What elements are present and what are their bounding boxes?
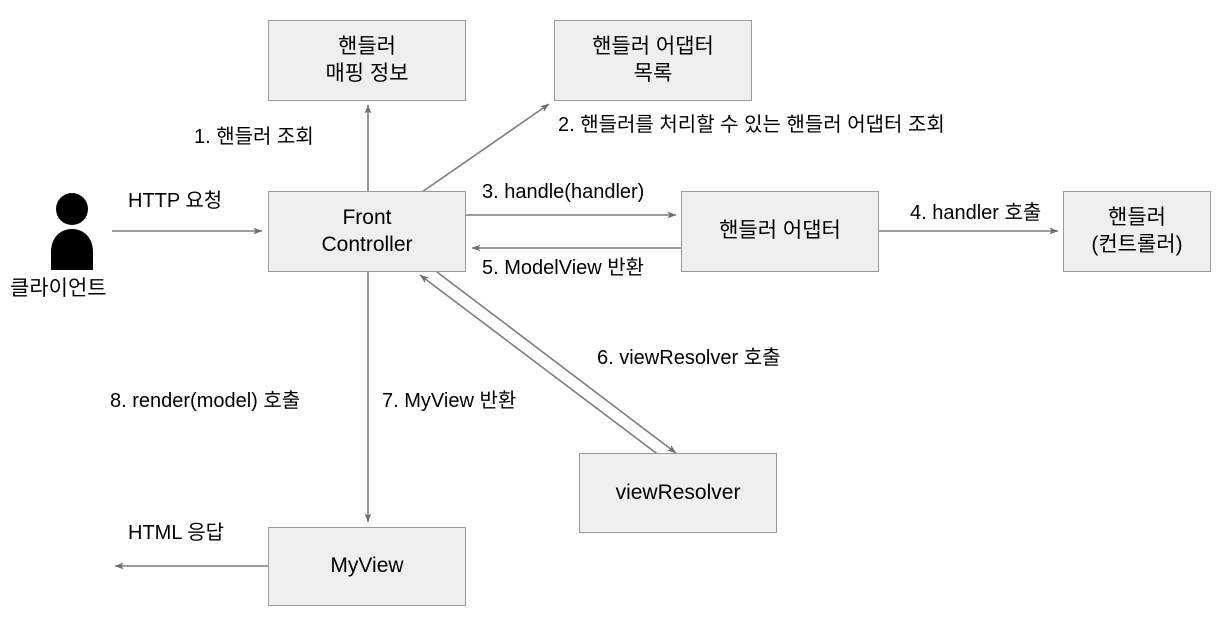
node-handler-controller[interactable]: 핸들러 (컨트롤러) (1063, 191, 1211, 272)
node-my-view[interactable]: MyView (268, 527, 466, 606)
node-handler-adapter-list[interactable]: 핸들러 어댑터 목록 (554, 20, 752, 101)
connector-step-2 (422, 104, 549, 192)
node-view-resolver[interactable]: viewResolver (579, 453, 777, 533)
diagram-canvas: 클라이언트 핸들러 매핑 정보 핸들러 어댑터 목록 Front Control… (0, 0, 1227, 624)
edge-label-step-3: 3. handle(handler) (482, 180, 644, 204)
edge-label-step-8: 8. render(model) 호출 (110, 389, 300, 413)
edge-label-step-5: 5. ModelView 반환 (482, 256, 644, 280)
edge-label-step-4: 4. handler 호출 (910, 201, 1041, 225)
actor-body-icon (51, 229, 93, 270)
edge-label-step-1: 1. 핸들러 조회 (194, 125, 314, 149)
node-front-controller[interactable]: Front Controller (268, 191, 466, 272)
client-actor-caption: 클라이언트 (10, 272, 107, 302)
node-handler-adapter[interactable]: 핸들러 어댑터 (681, 191, 879, 272)
edge-label-step-6: 6. viewResolver 호출 (597, 346, 781, 370)
edge-label-step-7: 7. MyView 반환 (382, 389, 516, 413)
edge-label-http-request: HTTP 요청 (128, 189, 222, 213)
actor-head-icon (56, 193, 88, 225)
edge-label-http-response: HTML 응답 (128, 521, 224, 545)
node-handler-mapping-info[interactable]: 핸들러 매핑 정보 (268, 20, 466, 101)
client-actor (42, 192, 102, 270)
edge-label-step-2: 2. 핸들러를 처리할 수 있는 핸들러 어댑터 조회 (558, 113, 945, 137)
